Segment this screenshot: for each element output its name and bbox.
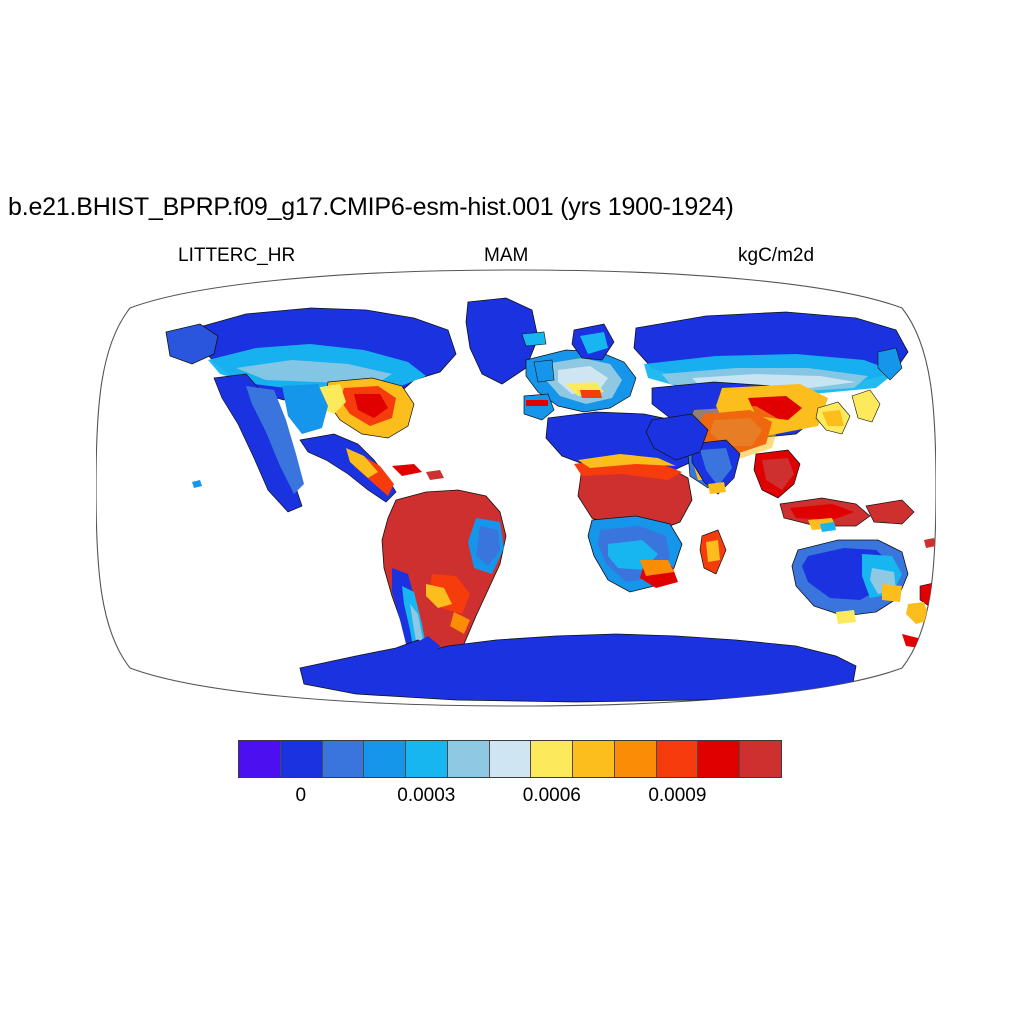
season-label: MAM [484, 244, 528, 268]
world-map [96, 268, 936, 708]
colorbar-cell-0 [239, 741, 281, 777]
colorbar-tick-2: 0.0006 [523, 784, 581, 808]
colorbar-tick-0: 0 [295, 784, 306, 808]
colorbar-cell-10 [657, 741, 699, 777]
map-svg [96, 268, 936, 708]
colorbar-cell-1 [281, 741, 323, 777]
colorbar-cell-11 [698, 741, 740, 777]
colorbar-cell-6 [490, 741, 532, 777]
colorbar-tick-1: 0.0003 [397, 784, 455, 808]
colorbar-cell-5 [448, 741, 490, 777]
page-title: b.e21.BHIST_BPRP.f09_g17.CMIP6-esm-hist.… [8, 192, 734, 222]
colorbar-cell-8 [573, 741, 615, 777]
colorbar-tick-labels: 00.00030.00060.0009 [238, 784, 782, 812]
colorbar-cell-12 [740, 741, 781, 777]
colorbar-tick-3: 0.0009 [648, 784, 706, 808]
units-label: kgC/m2d [738, 244, 814, 268]
colorbar-cell-4 [406, 741, 448, 777]
colorbar-cell-3 [364, 741, 406, 777]
colorbar [238, 740, 782, 778]
figure-canvas: b.e21.BHIST_BPRP.f09_g17.CMIP6-esm-hist.… [0, 0, 1024, 1024]
colorbar-cell-7 [531, 741, 573, 777]
variable-name-label: LITTERC_HR [178, 244, 295, 268]
colorbar-cell-2 [323, 741, 365, 777]
colorbar-strip [238, 740, 782, 778]
colorbar-cell-9 [615, 741, 657, 777]
